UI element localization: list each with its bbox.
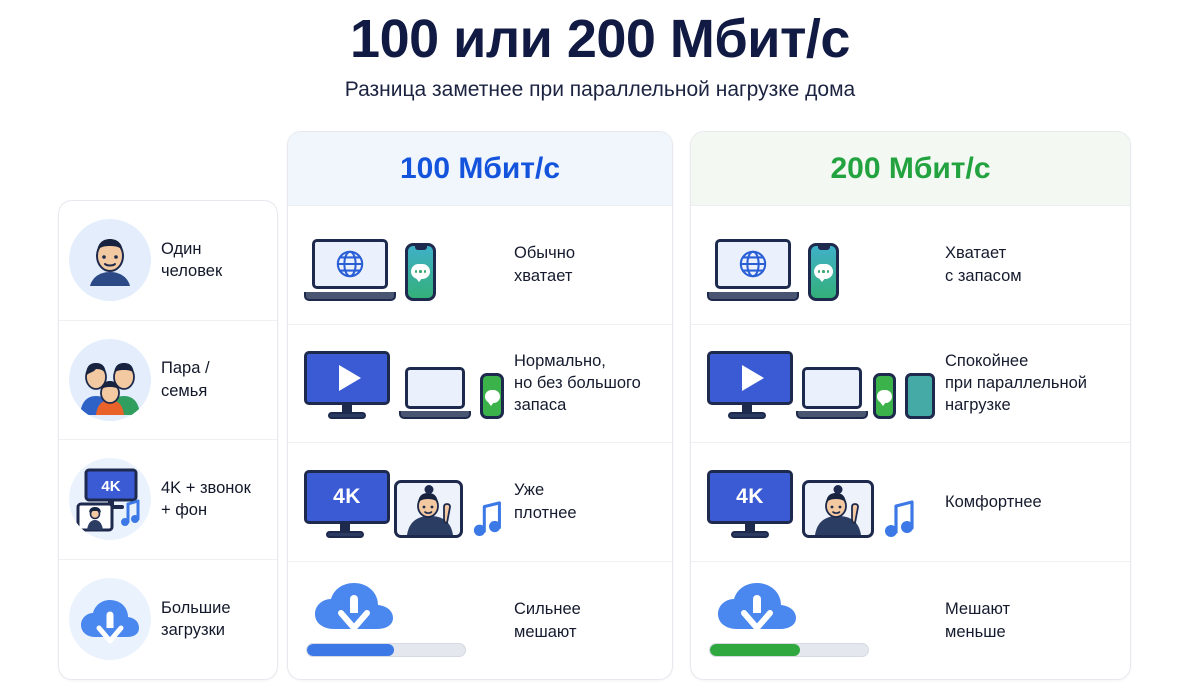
row-icon-group [707, 585, 935, 657]
plan-row: 4K [288, 443, 672, 562]
progress-bar-icon [306, 643, 466, 657]
phone-green-icon [480, 373, 504, 419]
plan-row-text: Нормально, но без большого запаса [504, 350, 660, 417]
row-icon-group [304, 585, 504, 657]
family-avatar-icon [69, 339, 151, 421]
plan-row: 4K [691, 443, 1130, 562]
scenario-label: Большие загрузки [151, 597, 269, 642]
row-icon-group [304, 229, 504, 301]
plan-row: Хватает с запасом [691, 206, 1130, 325]
page-subtitle: Разница заметнее при параллельной нагруз… [0, 78, 1200, 102]
scenario-row-4k-call-background: 4K 4K + звонок + фон [59, 440, 277, 560]
row-icon-group [304, 347, 504, 419]
laptop-globe-icon [304, 239, 396, 301]
tv-4k-label: 4K [333, 485, 361, 509]
infographic-root: 100 или 200 Мбит/с Разница заметнее при … [0, 0, 1200, 694]
cloud-download-icon [308, 579, 400, 651]
phone-green-icon [873, 373, 896, 419]
progress-bar-fill [307, 644, 394, 656]
phone-chat-icon [405, 243, 436, 301]
scenario-label-card: Один человек Пара / семья [58, 200, 278, 680]
plan-row-text: Сильнее мешают [504, 598, 660, 643]
plan-row-text: Мешают меньше [935, 598, 1118, 643]
download-progress-group [707, 579, 877, 657]
row-icon-group [707, 347, 935, 419]
music-note-icon [883, 498, 917, 538]
row-icon-group [707, 229, 935, 301]
scenario-row-family: Пара / семья [59, 321, 277, 441]
cloud-download-icon [69, 578, 151, 660]
plan-column-100: 100 Мбит/с О [287, 131, 673, 680]
plan-row: Сильнее мешают [288, 562, 672, 681]
plan-heading-200: 200 Мбит/с [691, 132, 1130, 206]
video-call-icon [802, 480, 874, 538]
progress-bar-fill [710, 644, 800, 656]
music-note-icon [472, 498, 504, 538]
page-title: 100 или 200 Мбит/с [0, 10, 1200, 68]
person-avatar-icon [69, 219, 151, 301]
svg-text:4K: 4K [101, 478, 120, 495]
plan-row: Обычно хватает [288, 206, 672, 325]
scenario-label: Один человек [151, 238, 269, 283]
download-progress-group [304, 579, 474, 657]
tv-4k-label: 4K [736, 485, 764, 509]
plan-row-text: Хватает с запасом [935, 242, 1118, 287]
tv-4k-icon: 4K [304, 470, 385, 538]
plan-column-200: 200 Мбит/с Х [690, 131, 1131, 680]
scenario-row-big-downloads: Большие загрузки [59, 560, 277, 680]
plan-heading-100: 100 Мбит/с [288, 132, 672, 206]
laptop-globe-icon [707, 239, 799, 301]
scenario-label: 4K + звонок + фон [151, 477, 269, 522]
scenario-row-single-person: Один человек [59, 201, 277, 321]
phone-chat-icon [808, 243, 839, 301]
cloud-download-icon [711, 579, 803, 651]
plan-row-text: Обычно хватает [504, 242, 660, 287]
plan-row: Нормально, но без большого запаса [288, 325, 672, 444]
progress-bar-icon [709, 643, 869, 657]
plan-row-text: Комфортнее [935, 491, 1118, 513]
tablet-icon [905, 373, 935, 419]
row-icon-group: 4K [707, 466, 935, 538]
tv-4k-call-music-icon: 4K [69, 458, 151, 540]
plan-row: Мешают меньше [691, 562, 1130, 681]
plan-row: Спокойнее при параллельной нагрузке [691, 325, 1130, 444]
laptop-icon [796, 367, 863, 419]
plan-row-text: Спокойнее при параллельной нагрузке [935, 350, 1118, 417]
tv-4k-icon: 4K [707, 470, 793, 538]
laptop-icon [399, 367, 471, 419]
plan-row-text: Уже плотнее [504, 479, 660, 524]
tv-play-icon [304, 351, 390, 419]
tv-play-icon [707, 351, 787, 419]
video-call-icon [394, 480, 462, 538]
row-icon-group: 4K [304, 466, 504, 538]
scenario-label: Пара / семья [151, 357, 269, 402]
